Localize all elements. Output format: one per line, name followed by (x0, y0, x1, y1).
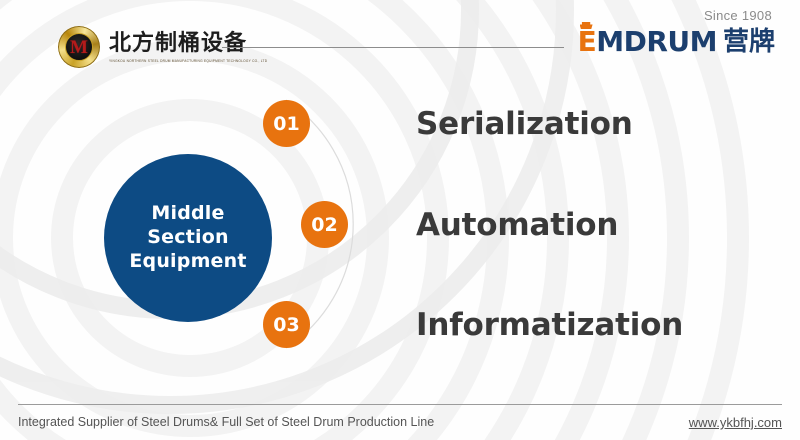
drum-mark-icon (580, 22, 593, 29)
feature-label-automation: Automation (416, 207, 618, 243)
footer-divider-line (18, 404, 782, 405)
feature-badge-03: 03 (263, 301, 310, 348)
since-label: Since 1908 (704, 8, 772, 23)
left-logo-chinese-name: 北方制桶设备 (109, 32, 267, 55)
feature-badge-02: 02 (301, 201, 348, 248)
seal-inner-disc: M (65, 33, 93, 61)
center-circle-label: Middle Section Equipment (129, 202, 246, 274)
emdrum-e-letter: E (578, 28, 597, 56)
slide-canvas: M 北方制桶设备 YINGKOU NORTHERN STEEL DRUM MAN… (0, 0, 800, 440)
emdrum-chinese-name: 营牌 (723, 29, 775, 55)
feature-item-serialization: 01 Serialization (263, 100, 633, 147)
company-logo-right: E MDRUM 营牌 (578, 28, 775, 56)
feature-label-informatization: Informatization (416, 307, 683, 343)
emdrum-mark-letter: E (578, 25, 597, 58)
emdrum-name: MDRUM (596, 28, 717, 56)
seal-letter: M (70, 38, 88, 57)
left-logo-english-subtitle: YINGKOU NORTHERN STEEL DRUM MANUFACTURIN… (109, 58, 267, 63)
slide-header: M 北方制桶设备 YINGKOU NORTHERN STEEL DRUM MAN… (0, 0, 800, 80)
feature-item-automation: 02 Automation (301, 201, 618, 248)
header-divider-line (222, 47, 564, 48)
seal-emblem-icon: M (58, 26, 100, 68)
feature-label-serialization: Serialization (416, 106, 633, 142)
footer-website-link[interactable]: www.ykbfhj.com (689, 415, 782, 430)
footer-tagline: Integrated Supplier of Steel Drums& Full… (18, 415, 434, 429)
feature-badge-01: 01 (263, 100, 310, 147)
feature-item-informatization: 03 Informatization (263, 301, 683, 348)
center-circle: Middle Section Equipment (104, 154, 272, 322)
